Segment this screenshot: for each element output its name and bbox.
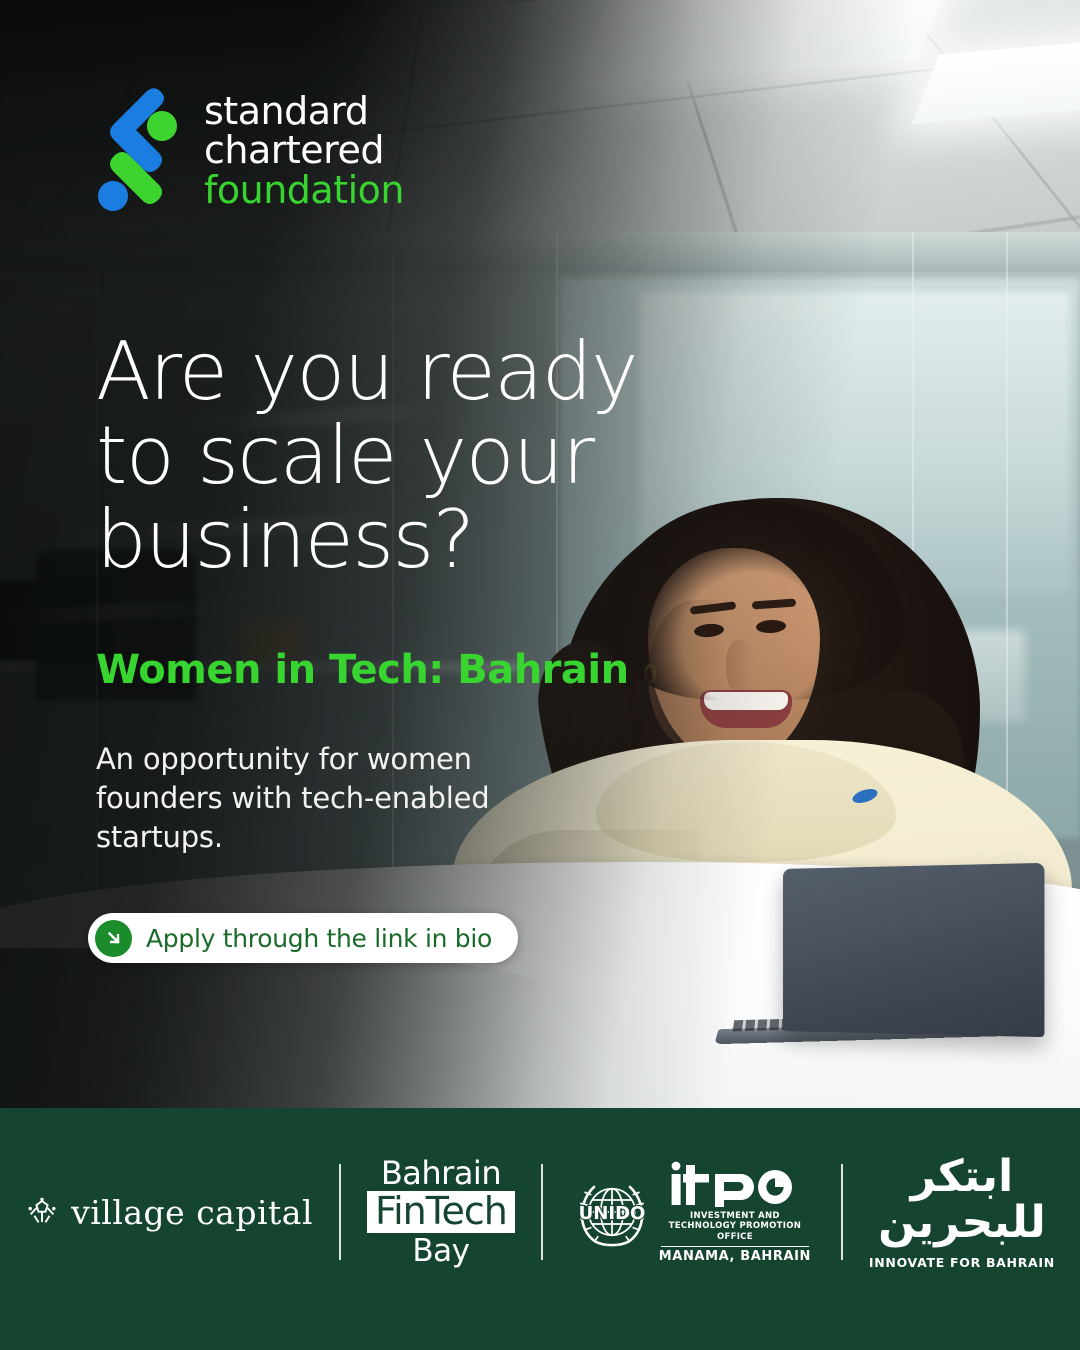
- standard-chartered-foundation-logo: standard chartered foundation: [96, 86, 404, 214]
- logo-wordmark: standard chartered foundation: [204, 86, 404, 211]
- arrow-down-right-glyph: [104, 928, 124, 948]
- standard-chartered-chevron-mark: [96, 86, 182, 214]
- innovate-tagline: INNOVATE FOR BAHRAIN: [869, 1255, 1055, 1270]
- village-capital-wordmark: village capital: [71, 1193, 313, 1232]
- footer-divider: [841, 1164, 843, 1260]
- bfb-line-bay: Bay: [412, 1236, 469, 1267]
- unido-wordmark: UNIDO: [578, 1203, 645, 1224]
- partner-logo-row: village capital Bahrain FinTech Bay: [25, 1154, 1055, 1270]
- itpo-logotype: [667, 1161, 803, 1207]
- itpo-location: MANAMA, BAHRAIN: [659, 1250, 811, 1263]
- footer-divider: [339, 1164, 341, 1260]
- un-laurel-globe-icon: UNIDO: [569, 1169, 655, 1255]
- itpo-rule: [661, 1246, 809, 1247]
- partner-logo-unido: UNIDO: [569, 1169, 655, 1255]
- partner-logo-itpo: INVESTMENT AND TECHNOLOGY PROMOTION OFFI…: [655, 1161, 815, 1264]
- logo-line-standard: standard: [204, 92, 404, 131]
- partner-footer: village capital Bahrain FinTech Bay: [0, 1108, 1080, 1350]
- apply-cta-button[interactable]: Apply through the link in bio: [88, 913, 518, 963]
- innovate-arabic-line-2: للبحرين: [878, 1200, 1046, 1246]
- headline-line-3: business?: [96, 498, 736, 582]
- headline-line-2: to scale your: [96, 414, 736, 498]
- body-copy: An opportunity for women founders with t…: [96, 740, 516, 857]
- headline-line-1: Are you ready: [96, 330, 736, 414]
- headline: Are you ready to scale your business?: [96, 330, 736, 582]
- program-subheading: Women in Tech: Bahrain: [96, 648, 629, 692]
- partner-logo-bahrain-fintech-bay: Bahrain FinTech Bay: [367, 1157, 515, 1267]
- partner-logo-village-capital: village capital: [25, 1193, 313, 1232]
- itpo-wordmark: [667, 1161, 803, 1207]
- partner-logo-innovate-for-bahrain: ابتكر للبحرين INNOVATE FOR BAHRAIN: [869, 1154, 1055, 1270]
- arrow-down-right-icon: [95, 920, 132, 957]
- apply-cta-label: Apply through the link in bio: [146, 924, 492, 953]
- logo-line-chartered: chartered: [204, 131, 404, 170]
- logo-line-foundation: foundation: [204, 170, 404, 211]
- village-capital-flower-icon: [25, 1195, 59, 1229]
- footer-divider: [541, 1164, 543, 1260]
- bfb-line-bahrain: Bahrain: [381, 1157, 501, 1189]
- poster: standard chartered foundation Are you re…: [0, 0, 1080, 1350]
- bfb-line-fintech: FinTech: [367, 1191, 515, 1233]
- innovate-arabic-line-1: ابتكر: [911, 1154, 1014, 1200]
- itpo-subtitle: INVESTMENT AND TECHNOLOGY PROMOTION OFFI…: [655, 1211, 815, 1243]
